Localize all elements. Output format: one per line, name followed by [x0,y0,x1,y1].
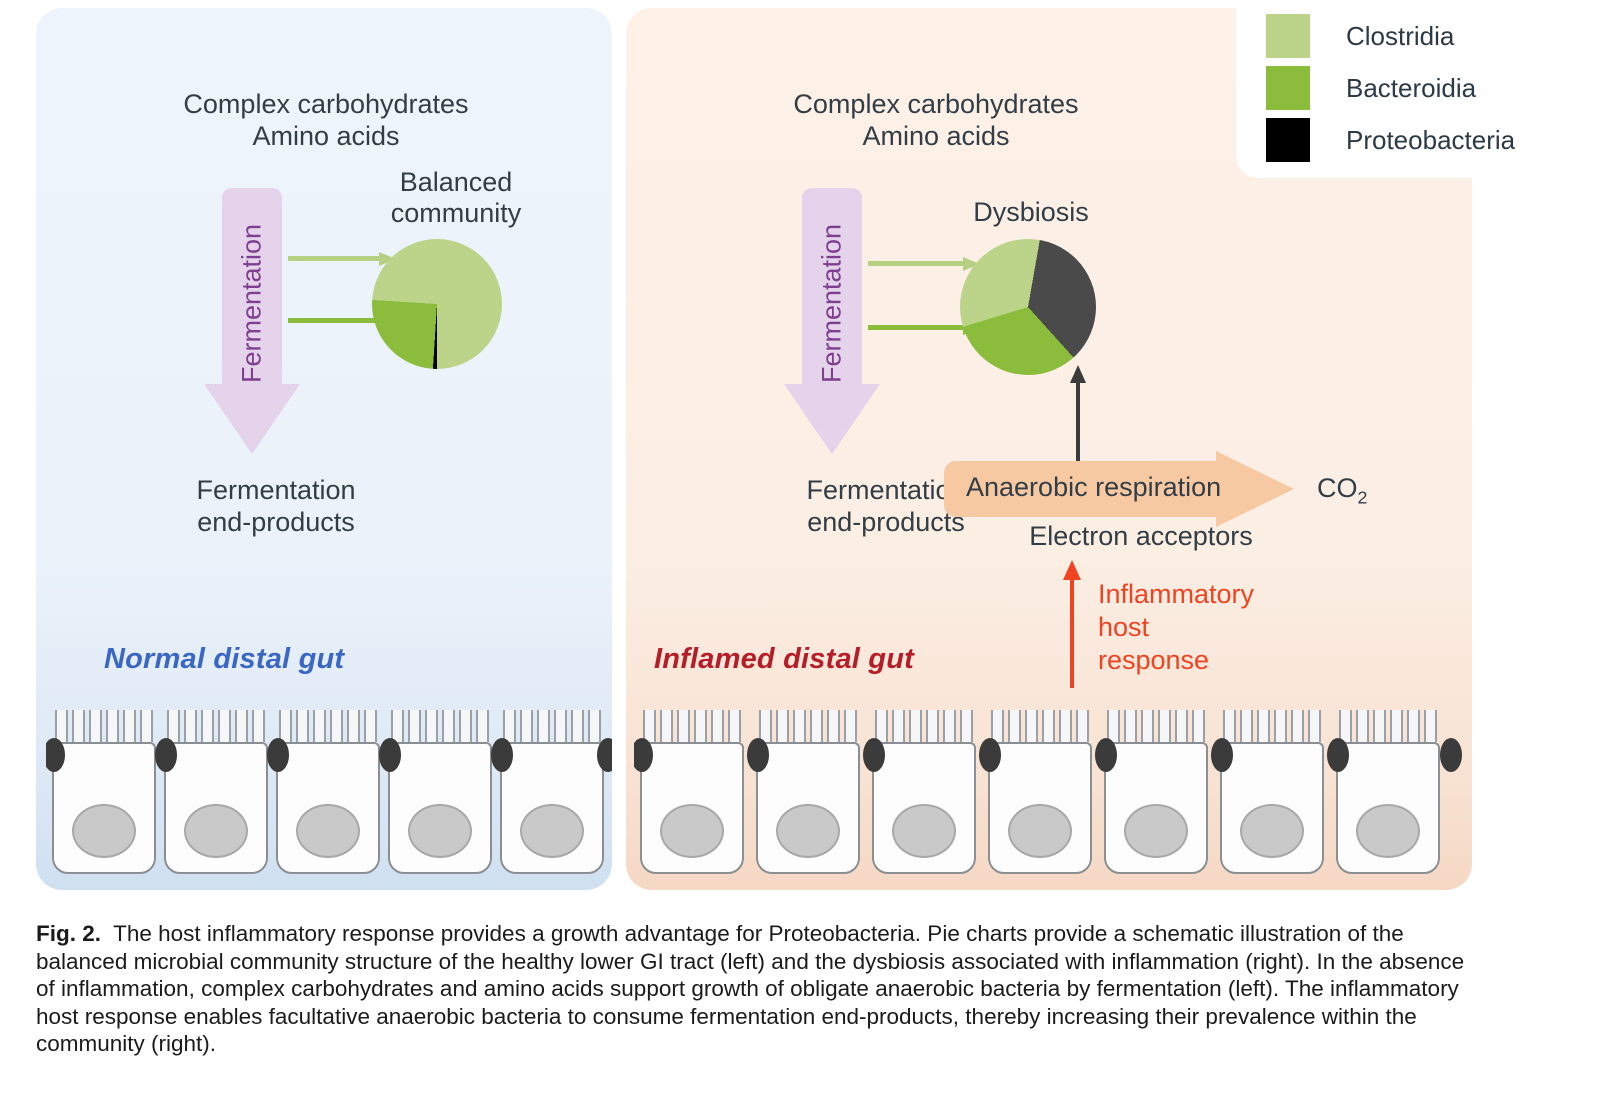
legend-item-proteobacteria: Proteobacteria [1266,118,1515,162]
inflammatory-line2: host [1098,611,1254,644]
arrow-shaft [1070,574,1074,688]
fermentation-arrow-left: Fermentation [204,188,300,454]
panel-title-normal: Normal distal gut [104,643,344,676]
legend-label-clostridia: Clostridia [1346,21,1454,52]
arrow-to-pie-clostridia-left [288,252,396,264]
tight-junction [267,738,289,772]
inflammatory-response-arrow [1063,560,1081,688]
nucleus [1008,804,1072,858]
tight-junction [597,738,612,772]
nucleus [1356,804,1420,858]
microvilli [643,710,741,742]
nucleus [296,804,360,858]
bacteroidia-swatch-icon [1266,66,1310,110]
epithelial-cell [756,742,860,874]
epithelial-cell [164,742,268,874]
tight-junction [1211,738,1233,772]
tight-junction [863,738,885,772]
inflammatory-line3: response [1098,644,1254,677]
co2-subscript: 2 [1358,487,1368,507]
nucleus [520,804,584,858]
epithelial-cell [52,742,156,874]
arrow-bar [868,325,964,330]
arrow-to-pie-clostridia-right [868,257,980,269]
microvilli [1223,710,1321,742]
microvilli [55,710,153,742]
legend-label-bacteroidia: Bacteroidia [1346,73,1476,104]
anaerobic-respiration-arrow: Anaerobic respiration [944,461,1294,517]
nucleus [892,804,956,858]
arrow-bar [288,318,380,323]
epithelial-cell [500,742,604,874]
clostridia-swatch-icon [1266,14,1310,58]
nucleus [408,804,472,858]
nucleus [72,804,136,858]
microvilli [503,710,601,742]
microvilli [1339,710,1437,742]
microvilli [991,710,1089,742]
tight-junction [379,738,401,772]
epithelium-left [46,710,612,890]
proteobacteria-swatch-icon [1266,118,1310,162]
tight-junction [979,738,1001,772]
epithelial-cell [388,742,492,874]
tight-junction [491,738,513,772]
tight-junction [1095,738,1117,772]
panel-normal-distal-gut: Complex carbohydrates Amino acids Fermen… [36,8,612,890]
nucleus [660,804,724,858]
arrow-bar [288,256,380,261]
right-inputs-line1: Complex carbohydrates [646,88,1226,121]
nucleus [1240,804,1304,858]
epithelial-cell [1104,742,1208,874]
nucleus [776,804,840,858]
co2-text: CO [1317,473,1358,503]
figure-caption: Fig. 2. The host inflammatory response p… [36,920,1476,1058]
tight-junction [747,738,769,772]
right-inputs-line2: Amino acids [646,120,1226,153]
legend: Clostridia Bacteroidia Proteobacteria [1236,0,1600,178]
tight-junction [1327,738,1349,772]
inflammatory-host-response-label: Inflammatory host response [1098,578,1254,677]
fermentation-arrow-right: Fermentation [784,188,880,454]
microvilli [167,710,265,742]
microvilli [1107,710,1205,742]
epithelial-cell [872,742,976,874]
caption-label: Fig. 2. [36,921,101,946]
left-outputs-line2: end-products [66,506,486,539]
electron-acceptor-arrow [1070,365,1086,475]
inflammatory-line1: Inflammatory [1098,578,1254,611]
nucleus [1124,804,1188,858]
legend-item-clostridia: Clostridia [1266,14,1454,58]
anaerobic-respiration-label: Anaerobic respiration [966,472,1221,503]
left-inputs-line1: Complex carbohydrates [66,88,586,121]
left-pie-title-line2: community [336,197,576,230]
right-pie-title: Dysbiosis [906,196,1156,229]
left-inputs-line2: Amino acids [66,120,586,153]
epithelial-cell [988,742,1092,874]
panel-title-inflamed: Inflamed distal gut [654,643,914,676]
epithelial-cell [1336,742,1440,874]
epithelial-cell [276,742,380,874]
figure-2: Complex carbohydrates Amino acids Fermen… [0,0,1600,1104]
tight-junction [155,738,177,772]
legend-label-proteobacteria: Proteobacteria [1346,125,1515,156]
epithelial-cell [640,742,744,874]
co2-label: CO2 [1317,472,1367,513]
pie-chart-dysbiosis [960,239,1096,375]
pie-chart-balanced-community [372,239,502,369]
fermentation-label-right: Fermentation [817,188,848,420]
tight-junction [1440,738,1462,772]
microvilli [875,710,973,742]
microvilli [391,710,489,742]
left-pie-title-line1: Balanced [336,166,576,199]
microvilli [759,710,857,742]
arrow-bar [868,261,964,266]
microvilli [279,710,377,742]
electron-acceptors-label: Electron acceptors [896,520,1386,553]
nucleus [184,804,248,858]
fermentation-label-left: Fermentation [237,188,268,420]
left-outputs-line1: Fermentation [66,474,486,507]
epithelium-right [634,710,1464,890]
caption-text: The host inflammatory response provides … [36,921,1464,1056]
legend-item-bacteroidia: Bacteroidia [1266,66,1476,110]
epithelial-cell [1220,742,1324,874]
